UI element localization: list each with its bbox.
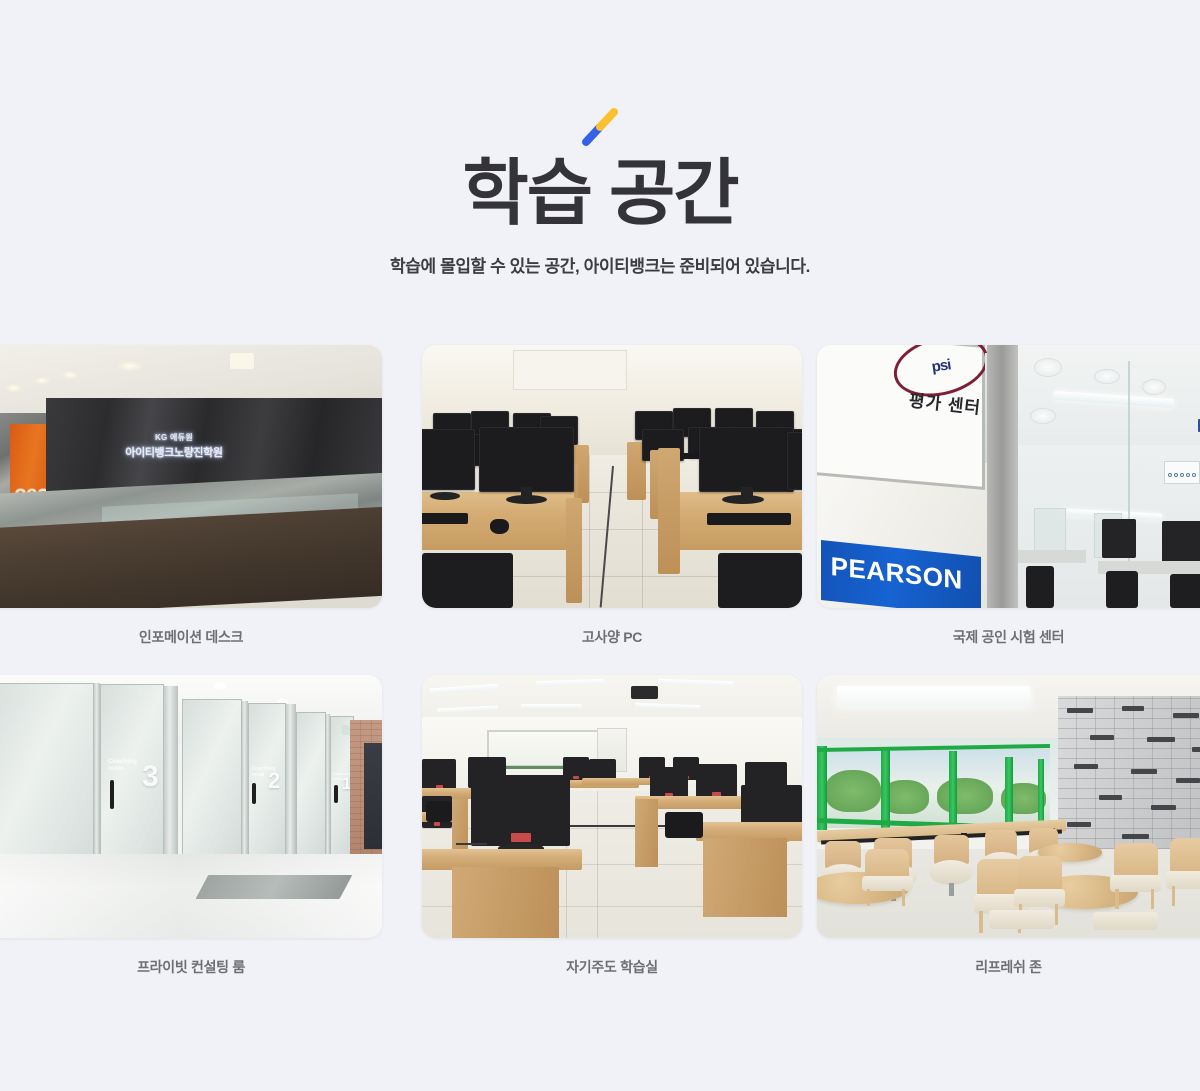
- facility-caption: 인포메이션 데스크: [0, 627, 382, 647]
- page-subtitle: 학습에 몰입할 수 있는 공간, 아이티뱅크는 준비되어 있습니다.: [0, 252, 1200, 277]
- page-title: 학습 공간: [0, 158, 1200, 230]
- facility-card-high-spec-pc[interactable]: [422, 345, 802, 608]
- information-desk-photo: 302 KG 에듀원 아이티뱅크노량진학원: [0, 345, 382, 608]
- facility-caption: 프라이빗 컨설팅 룸: [0, 957, 382, 977]
- facility-card-information-desk[interactable]: 302 KG 에듀원 아이티뱅크노량진학원: [0, 345, 382, 608]
- facility-caption: 국제 공인 시험 센터: [817, 627, 1200, 647]
- private-consulting-room-photo: Coachingroom 3 Coachingroom 2 Coachingro…: [0, 675, 382, 938]
- high-spec-pc-lab-photo: [422, 345, 802, 608]
- facility-card-private-consulting-room[interactable]: Coachingroom 3 Coachingroom 2 Coachingro…: [0, 675, 382, 938]
- facility-caption: 리프레쉬 존: [817, 957, 1200, 977]
- diagonal-slash-mark-icon: [570, 104, 630, 150]
- coaching-room-number: 3: [142, 762, 159, 792]
- facility-gallery: 302 KG 에듀원 아이티뱅크노량진학원 인포메이션 데스크: [0, 345, 1200, 1005]
- gallery-row: 302 KG 에듀원 아이티뱅크노량진학원 인포메이션 데스크: [0, 345, 1200, 675]
- refresh-zone-photo: [817, 675, 1200, 938]
- facility-card-self-study-room[interactable]: [422, 675, 802, 938]
- reception-brand-sign: KG 에듀원 아이티뱅크노량진학원: [114, 432, 234, 460]
- self-directed-study-room-photo: [422, 675, 802, 938]
- page-header: 학습 공간 학습에 몰입할 수 있는 공간, 아이티뱅크는 준비되어 있습니다.: [0, 0, 1200, 277]
- facility-caption: 자기주도 학습실: [422, 957, 802, 977]
- facility-card-refresh-zone[interactable]: [817, 675, 1200, 938]
- coaching-room-number: 2: [268, 770, 280, 792]
- facility-card-test-center[interactable]: psi 평가 센터 PEARSON: [817, 345, 1200, 608]
- gallery-row: Coachingroom 3 Coachingroom 2 Coachingro…: [0, 675, 1200, 1005]
- facility-caption: 고사양 PC: [422, 627, 802, 647]
- certification-test-center-photo: psi 평가 센터 PEARSON: [817, 345, 1200, 608]
